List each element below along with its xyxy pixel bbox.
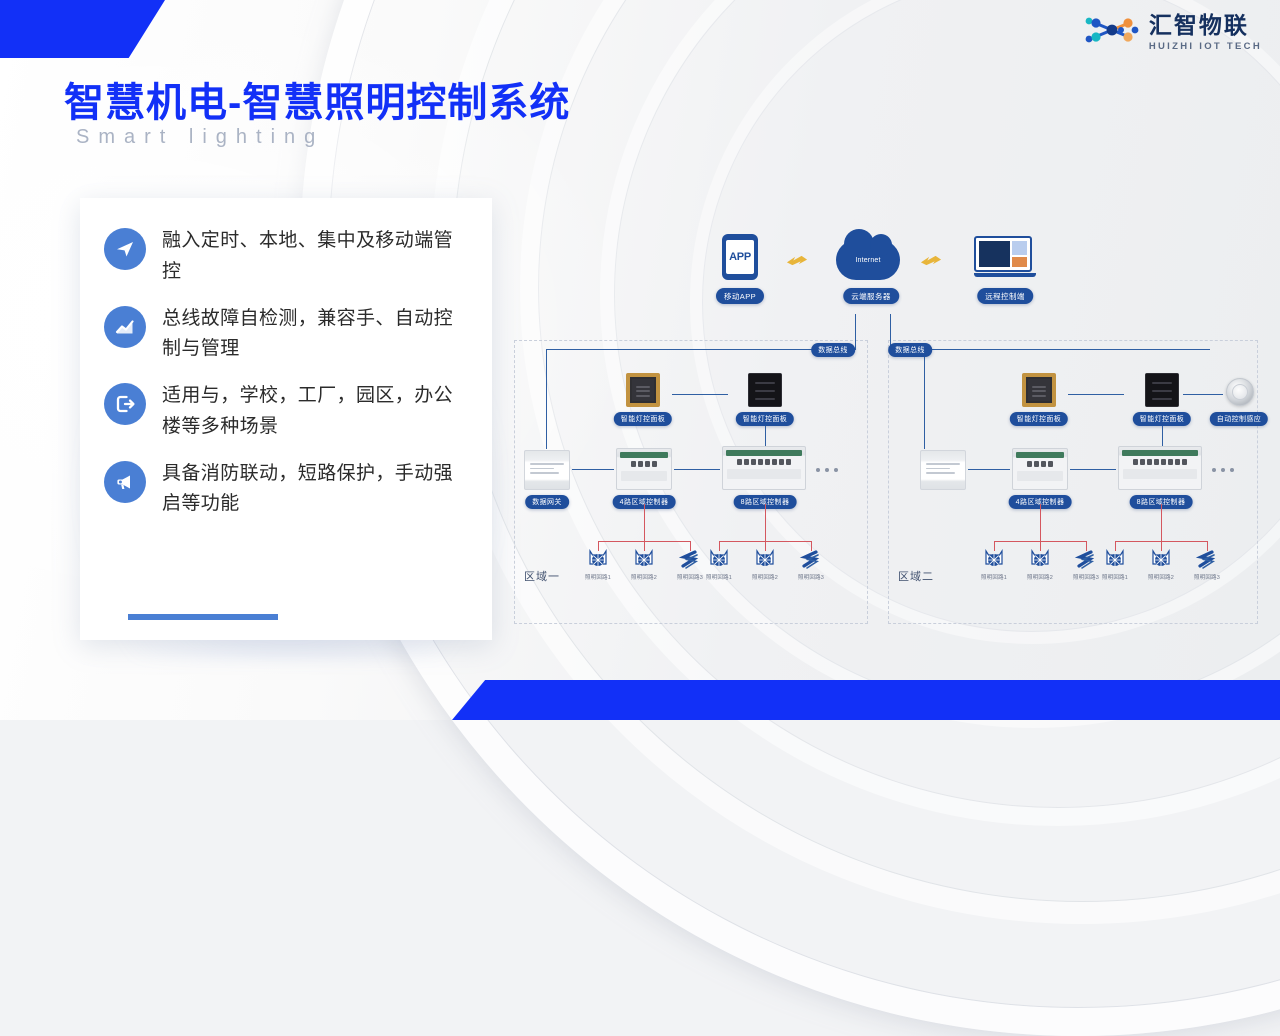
- circuit-label-z1-b2: 照明回路2: [752, 573, 778, 581]
- system-architecture-diagram: 区域一 区域二 APP 移动APP Internet 云端服务器 远程控制端 数…: [500, 218, 1280, 618]
- label-mobile-app: 移动APP: [716, 288, 764, 304]
- label-panel-black-z2: 智能灯控面板: [1133, 412, 1191, 426]
- lamp-circuit-icon-z2-a1: [982, 549, 1006, 571]
- ctrl4-to-ctrl8-z1: [674, 469, 720, 470]
- smart-light-panel-gold-z2: [1022, 373, 1056, 407]
- page-title: 智慧机电-智慧照明控制系统: [64, 70, 570, 128]
- bus-vertical-zone1: [546, 349, 547, 449]
- page-subtitle: Smart lighting: [76, 126, 324, 149]
- wireless-bolt-icon-2: [920, 254, 942, 267]
- smart-light-panel-black-z2: [1145, 373, 1179, 407]
- features-list: 融入定时、本地、集中及移动端管控 总线故障自检测，兼容手、自动控制与管理 适用与…: [104, 226, 492, 536]
- app-badge-text: APP: [729, 251, 751, 263]
- circuit-label-z1-b1: 照明回路1: [706, 573, 732, 581]
- circuit-label-z2-b2: 照明回路2: [1148, 573, 1174, 581]
- panel-link-z2-a: [1068, 394, 1124, 395]
- circuit-label-z2-a3: 照明回路3: [1073, 573, 1099, 581]
- label-data-gateway-z1: 数据网关: [525, 495, 569, 509]
- brand-logo: 汇智物联 HUIZHI IOT TECH: [1083, 14, 1262, 52]
- bottom-accent-banner: [452, 680, 1280, 720]
- lamp-circuit-icon-z2-a2: [1028, 549, 1052, 571]
- data-gateway-z1: [524, 450, 570, 490]
- bus-drop-left: [855, 314, 856, 350]
- feature-text-2: 总线故障自检测，兼容手、自动控制与管理: [162, 304, 462, 366]
- zone-label-2: 区域二: [898, 568, 934, 584]
- megaphone-icon: [104, 461, 146, 503]
- label-panel-gold-z1: 智能灯控面板: [614, 412, 672, 426]
- logo-name-cn: 汇智物联: [1149, 14, 1249, 37]
- more-indicator-z2: [1212, 468, 1234, 472]
- remote-control-device: [974, 236, 1036, 280]
- strip-light-icon-z2-a3: [1074, 549, 1098, 571]
- bus-line-zone2: [890, 349, 1210, 350]
- zone-controller-8ch-z1: [722, 446, 806, 490]
- label-remote-control: 远程控制端: [977, 288, 1033, 304]
- lamp-circuit-icon-z1-a2: [632, 549, 656, 571]
- circuit-label-z2-b3: 照明回路3: [1194, 573, 1220, 581]
- zone-label-1: 区域一: [524, 568, 560, 584]
- lamp-circuit-icon-z2-b1: [1103, 549, 1127, 571]
- send-plane-icon: [104, 228, 146, 270]
- cloud-text: Internet: [855, 257, 880, 264]
- feature-item-4: 具备消防联动，短路保护，手动强启等功能: [104, 459, 492, 521]
- card-accent-underline: [128, 614, 278, 620]
- circuit-label-z1-b3: 照明回路3: [798, 573, 824, 581]
- lamp-circuit-icon-z1-a1: [586, 549, 610, 571]
- circuit-label-z1-a3: 照明回路3: [677, 573, 703, 581]
- molecule-network-icon: [1083, 14, 1141, 51]
- bus-vertical-zone2b: [924, 349, 925, 449]
- strip-light-icon-z1-a3: [678, 549, 702, 571]
- logout-arrow-icon: [104, 383, 146, 425]
- circuit-label-z1-a2: 照明回路2: [631, 573, 657, 581]
- logo-name-en: HUIZHI IOT TECH: [1149, 42, 1262, 52]
- circuit-label-z2-a2: 照明回路2: [1027, 573, 1053, 581]
- circuit-trunk-z2-b: [1161, 504, 1162, 542]
- circuit-label-z2-a1: 照明回路1: [981, 573, 1007, 581]
- label-cloud-server: 云端服务器: [843, 288, 899, 304]
- circuit-trunk-z1-a: [644, 504, 645, 542]
- lamp-circuit-icon-z1-b1: [707, 549, 731, 571]
- ctrl4-to-ctrl8-z2: [1070, 469, 1116, 470]
- label-auto-sensor-z2: 自动控制感应: [1210, 412, 1268, 426]
- feature-item-1: 融入定时、本地、集中及移动端管控: [104, 226, 492, 288]
- feature-text-1: 融入定时、本地、集中及移动端管控: [162, 226, 462, 288]
- strip-light-icon-z2-b3: [1195, 549, 1219, 571]
- lamp-circuit-icon-z1-b2: [753, 549, 777, 571]
- panel-link-z1: [672, 394, 728, 395]
- strip-light-icon-z1-b3: [799, 549, 823, 571]
- more-indicator-z1: [816, 468, 838, 472]
- gateway-to-ctrl4-z1: [572, 469, 614, 470]
- feature-text-4: 具备消防联动，短路保护，手动强启等功能: [162, 459, 462, 521]
- wireless-bolt-icon-1: [786, 254, 808, 267]
- lamp-circuit-icon-z2-b2: [1149, 549, 1173, 571]
- circuit-label-z2-b1: 照明回路1: [1102, 573, 1128, 581]
- data-gateway-z2: [920, 450, 966, 490]
- label-data-bus-2: 数据总线: [888, 343, 932, 357]
- label-panel-gold-z2: 智能灯控面板: [1010, 412, 1068, 426]
- gateway-to-ctrl4-z2: [968, 469, 1010, 470]
- panel-link-z2-b: [1183, 394, 1223, 395]
- smart-light-panel-gold-z1: [626, 373, 660, 407]
- mobile-app-device: APP: [722, 234, 758, 280]
- feature-text-3: 适用与，学校，工厂，园区，办公楼等多种场景: [162, 381, 462, 443]
- line-chart-icon: [104, 306, 146, 348]
- circuit-trunk-z1-b: [765, 504, 766, 542]
- bus-line-zone1: [546, 349, 856, 350]
- auto-control-sensor-z2: [1226, 378, 1254, 406]
- label-data-bus-1: 数据总线: [811, 343, 855, 357]
- zone-controller-8ch-z2: [1118, 446, 1202, 490]
- circuit-label-z1-a1: 照明回路1: [585, 573, 611, 581]
- feature-item-2: 总线故障自检测，兼容手、自动控制与管理: [104, 304, 492, 366]
- zone-controller-4ch-z1: [616, 448, 672, 490]
- feature-item-3: 适用与，学校，工厂，园区，办公楼等多种场景: [104, 381, 492, 443]
- cloud-server-device: Internet: [836, 240, 900, 280]
- label-panel-black-z1: 智能灯控面板: [736, 412, 794, 426]
- circuit-trunk-z2-a: [1040, 504, 1041, 542]
- smart-light-panel-black-z1: [748, 373, 782, 407]
- zone-controller-4ch-z2: [1012, 448, 1068, 490]
